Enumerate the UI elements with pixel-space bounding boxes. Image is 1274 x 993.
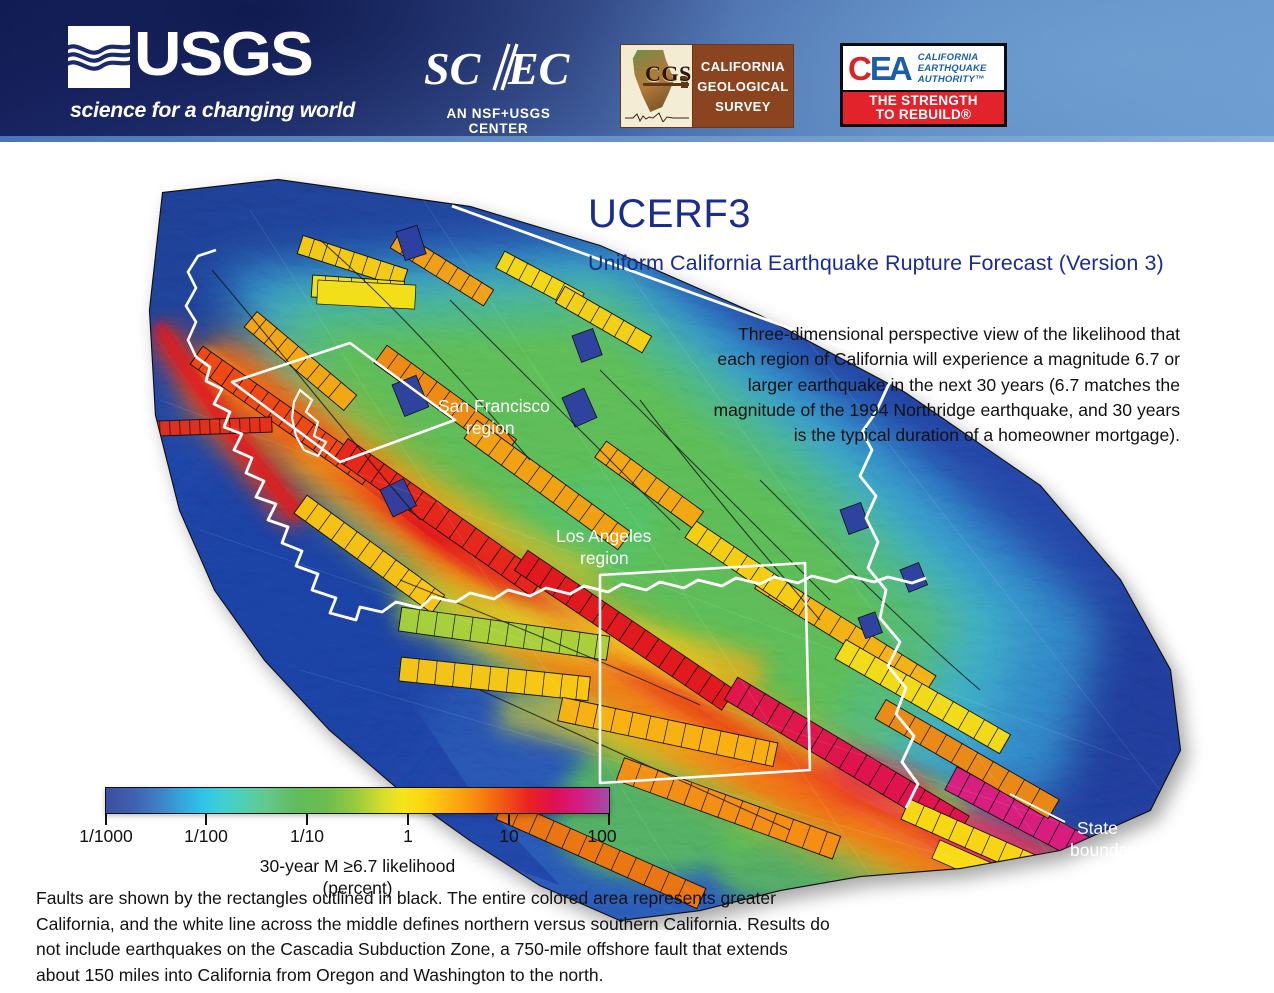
cgs-california-icon: CGS xyxy=(621,45,693,127)
colorbar-label-1: 1/100 xyxy=(184,826,228,847)
colorbar-tick-3 xyxy=(407,814,409,825)
sf-label-line2: region xyxy=(466,418,515,438)
cea-letter-a: A xyxy=(889,52,913,85)
sb-label-line1: State xyxy=(1077,818,1118,838)
colorbar-legend: 1/1000 1/100 1/10 1 10 100 30-year M ≥6.… xyxy=(105,787,610,899)
cea-sub2: EARTHQUAKE xyxy=(918,63,987,74)
cgs-seismogram-icon xyxy=(625,112,689,122)
description-paragraph: Three-dimensional perspective view of th… xyxy=(700,322,1180,448)
cea-tag1: THE STRENGTH xyxy=(869,94,978,108)
cea-sub3: AUTHORITY™ xyxy=(918,74,987,85)
scec-logo: SC EC AN NSF+USGS CENTER xyxy=(416,40,581,124)
cgs-abbrev: CGS xyxy=(645,61,692,87)
cea-logo: C E A CALIFORNIA EARTHQUAKE AUTHORITY™ T… xyxy=(840,43,1007,127)
colorbar-label-2: 1/10 xyxy=(290,826,324,847)
cgs-logo: CGS CALIFORNIA GEOLOGICAL SURVEY xyxy=(620,44,794,128)
header-banner: USGS science for a changing world SC EC … xyxy=(0,0,1274,142)
cea-tag2: TO REBUILD® xyxy=(876,108,972,122)
colorbar-label-3: 1 xyxy=(403,826,413,847)
title-block: UCERF3 Uniform California Earthquake Rup… xyxy=(588,192,1208,276)
ucerf3-poster: USGS science for a changing world SC EC … xyxy=(0,0,1274,993)
usgs-logo: USGS science for a changing world xyxy=(68,26,363,122)
colorbar-tick-5 xyxy=(608,814,610,825)
colorbar-tick-0 xyxy=(105,814,107,825)
la-label-line1: Los Angeles xyxy=(556,526,652,546)
colorbar-gradient xyxy=(105,787,610,814)
scec-tagline: AN NSF+USGS CENTER xyxy=(416,106,581,136)
colorbar-label-5: 100 xyxy=(587,826,616,847)
page-subtitle: Uniform California Earthquake Rupture Fo… xyxy=(588,251,1208,276)
usgs-wave-icon xyxy=(68,26,130,88)
colorbar-ticks xyxy=(105,814,610,825)
colorbar-tick-labels: 1/1000 1/100 1/10 1 10 100 xyxy=(105,826,610,850)
cea-letter-c: C xyxy=(848,52,872,85)
sf-label-line1: San Francisco xyxy=(438,396,550,416)
footer-caption: Faults are shown by the rectangles outli… xyxy=(36,886,836,988)
svg-text:SC: SC xyxy=(424,43,482,94)
colorbar-label-4: 10 xyxy=(499,826,518,847)
colorbar-caption-line1: 30-year M ≥6.7 likelihood xyxy=(260,856,455,876)
cea-sub1: CALIFORNIA xyxy=(918,52,987,63)
cgs-line2: GEOLOGICAL xyxy=(697,79,788,94)
usgs-wordmark: USGS xyxy=(134,19,312,91)
colorbar-tick-2 xyxy=(306,814,308,825)
la-label-line2: region xyxy=(580,548,629,568)
usgs-tagline: science for a changing world xyxy=(70,98,355,123)
cgs-line3: SURVEY xyxy=(715,99,771,114)
colorbar-tick-1 xyxy=(205,814,207,825)
colorbar-tick-4 xyxy=(508,814,510,825)
page-title: UCERF3 xyxy=(588,192,1208,237)
cgs-line1: CALIFORNIA xyxy=(701,59,785,74)
colorbar-label-0: 1/1000 xyxy=(79,826,133,847)
sb-label-line2: boundary xyxy=(1070,840,1143,860)
